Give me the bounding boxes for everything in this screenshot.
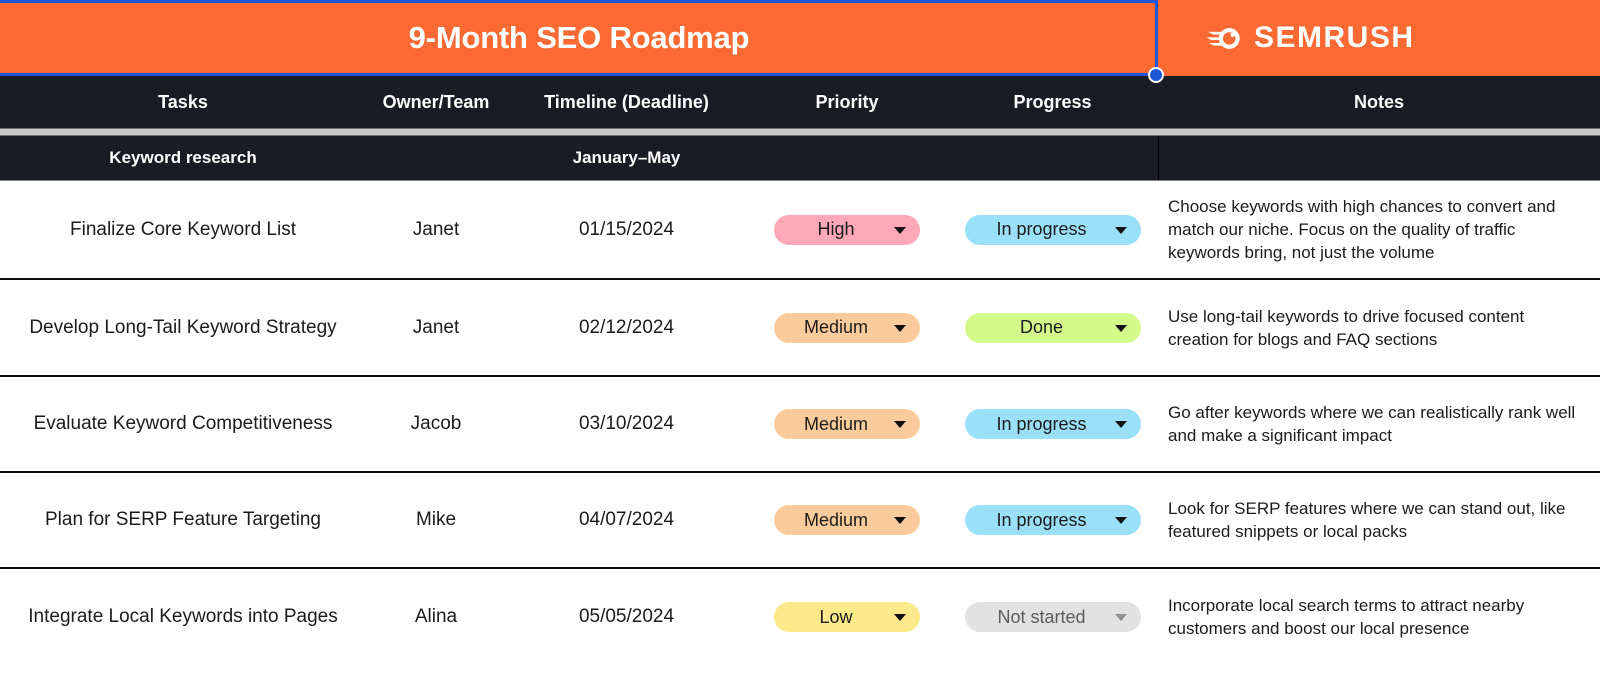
table-row: Finalize Core Keyword List Janet 01/15/2… bbox=[0, 181, 1600, 280]
priority-value: Medium bbox=[804, 414, 890, 435]
owner-label: Janet bbox=[413, 317, 459, 339]
progress-value: Not started bbox=[997, 607, 1107, 628]
progress-value: In progress bbox=[996, 510, 1108, 531]
chevron-down-icon bbox=[1115, 325, 1127, 332]
chevron-down-icon bbox=[1115, 227, 1127, 234]
priority-dropdown[interactable]: High bbox=[774, 215, 920, 245]
owner-cell[interactable]: Jacob bbox=[366, 377, 506, 471]
priority-dropdown[interactable]: Medium bbox=[774, 313, 920, 343]
date-cell[interactable]: 05/05/2024 bbox=[506, 569, 747, 665]
task-label: Plan for SERP Feature Targeting bbox=[45, 509, 321, 531]
owner-cell[interactable]: Mike bbox=[366, 473, 506, 567]
progress-cell[interactable]: In progress bbox=[947, 181, 1158, 278]
task-label: Evaluate Keyword Competitiveness bbox=[34, 413, 333, 435]
table-row: Evaluate Keyword Competitiveness Jacob 0… bbox=[0, 377, 1600, 473]
date-label: 01/15/2024 bbox=[579, 219, 674, 241]
notes-cell[interactable]: Incorporate local search terms to attrac… bbox=[1158, 569, 1600, 665]
chevron-down-icon bbox=[894, 517, 906, 524]
priority-cell[interactable]: Medium bbox=[747, 473, 947, 567]
column-header-row: Tasks Owner/Team Timeline (Deadline) Pri… bbox=[0, 76, 1600, 128]
chevron-down-icon bbox=[1115, 421, 1127, 428]
chevron-down-icon bbox=[894, 614, 906, 621]
column-header-priority[interactable]: Priority bbox=[747, 92, 947, 113]
title-cell[interactable]: 9-Month SEO Roadmap bbox=[0, 0, 1158, 76]
notes-label: Choose keywords with high chances to con… bbox=[1168, 195, 1588, 264]
date-label: 05/05/2024 bbox=[579, 606, 674, 628]
task-cell[interactable]: Integrate Local Keywords into Pages bbox=[0, 569, 366, 665]
priority-dropdown[interactable]: Low bbox=[774, 602, 920, 632]
semrush-logo: SEMRUSH bbox=[1158, 0, 1600, 76]
progress-dropdown[interactable]: In progress bbox=[965, 409, 1141, 439]
notes-label: Incorporate local search terms to attrac… bbox=[1168, 594, 1588, 640]
progress-cell[interactable]: Not started bbox=[947, 569, 1158, 665]
task-cell[interactable]: Develop Long-Tail Keyword Strategy bbox=[0, 280, 366, 375]
progress-dropdown[interactable]: Not started bbox=[965, 602, 1141, 632]
priority-cell[interactable]: Low bbox=[747, 569, 947, 665]
progress-value: In progress bbox=[996, 414, 1108, 435]
priority-value: High bbox=[817, 219, 876, 240]
progress-dropdown[interactable]: In progress bbox=[965, 505, 1141, 535]
priority-cell[interactable]: Medium bbox=[747, 377, 947, 471]
chevron-down-icon bbox=[894, 325, 906, 332]
progress-cell[interactable]: Done bbox=[947, 280, 1158, 375]
table-row: Integrate Local Keywords into Pages Alin… bbox=[0, 569, 1600, 665]
task-cell[interactable]: Finalize Core Keyword List bbox=[0, 181, 366, 278]
progress-cell[interactable]: In progress bbox=[947, 473, 1158, 567]
section-row-keyword-research: Keyword research January–May bbox=[0, 136, 1600, 181]
notes-label: Look for SERP features where we can stan… bbox=[1168, 497, 1588, 543]
progress-value: Done bbox=[1020, 317, 1085, 338]
task-label: Integrate Local Keywords into Pages bbox=[28, 606, 337, 628]
progress-value: In progress bbox=[996, 219, 1108, 240]
priority-value: Medium bbox=[804, 317, 890, 338]
date-cell[interactable]: 02/12/2024 bbox=[506, 280, 747, 375]
section-timeline[interactable]: January–May bbox=[506, 136, 747, 180]
progress-dropdown[interactable]: Done bbox=[965, 313, 1141, 343]
priority-cell[interactable]: High bbox=[747, 181, 947, 278]
owner-cell[interactable]: Janet bbox=[366, 181, 506, 278]
task-cell[interactable]: Plan for SERP Feature Targeting bbox=[0, 473, 366, 567]
task-label: Finalize Core Keyword List bbox=[70, 219, 296, 241]
page-title: 9-Month SEO Roadmap bbox=[409, 20, 750, 56]
priority-value: Medium bbox=[804, 510, 890, 531]
chevron-down-icon bbox=[1115, 614, 1127, 621]
title-band: 9-Month SEO Roadmap SEMRUSH bbox=[0, 0, 1600, 76]
date-cell[interactable]: 04/07/2024 bbox=[506, 473, 747, 567]
date-label: 02/12/2024 bbox=[579, 317, 674, 339]
date-cell[interactable]: 01/15/2024 bbox=[506, 181, 747, 278]
notes-label: Go after keywords where we can realistic… bbox=[1168, 401, 1588, 447]
column-header-progress[interactable]: Progress bbox=[947, 92, 1158, 113]
date-label: 03/10/2024 bbox=[579, 413, 674, 435]
chevron-down-icon bbox=[1115, 517, 1127, 524]
notes-label: Use long-tail keywords to drive focused … bbox=[1168, 305, 1588, 351]
selection-border-right bbox=[1155, 0, 1158, 76]
priority-value: Low bbox=[819, 607, 874, 628]
notes-cell[interactable]: Go after keywords where we can realistic… bbox=[1158, 377, 1600, 471]
semrush-comet-icon bbox=[1206, 19, 1244, 57]
section-notes-cell[interactable] bbox=[1158, 136, 1600, 180]
section-progress-cell[interactable] bbox=[947, 136, 1158, 180]
owner-label: Janet bbox=[413, 219, 459, 241]
header-separator-bar bbox=[0, 128, 1600, 136]
notes-cell[interactable]: Look for SERP features where we can stan… bbox=[1158, 473, 1600, 567]
priority-dropdown[interactable]: Medium bbox=[774, 409, 920, 439]
spreadsheet-canvas: 9-Month SEO Roadmap SEMRUSH Tasks Owner/… bbox=[0, 0, 1600, 676]
section-priority-cell[interactable] bbox=[747, 136, 947, 180]
column-header-timeline[interactable]: Timeline (Deadline) bbox=[506, 92, 747, 113]
section-owner-cell[interactable] bbox=[366, 136, 506, 180]
task-cell[interactable]: Evaluate Keyword Competitiveness bbox=[0, 377, 366, 471]
notes-cell[interactable]: Use long-tail keywords to drive focused … bbox=[1158, 280, 1600, 375]
priority-dropdown[interactable]: Medium bbox=[774, 505, 920, 535]
progress-cell[interactable]: In progress bbox=[947, 377, 1158, 471]
date-label: 04/07/2024 bbox=[579, 509, 674, 531]
owner-cell[interactable]: Janet bbox=[366, 280, 506, 375]
column-header-notes[interactable]: Notes bbox=[1158, 92, 1600, 113]
owner-label: Alina bbox=[415, 606, 457, 628]
selection-border-bottom bbox=[0, 73, 1158, 76]
table-row: Develop Long-Tail Keyword Strategy Janet… bbox=[0, 280, 1600, 377]
section-name[interactable]: Keyword research bbox=[0, 136, 366, 180]
priority-cell[interactable]: Medium bbox=[747, 280, 947, 375]
column-header-tasks[interactable]: Tasks bbox=[0, 92, 366, 113]
selection-border-top bbox=[0, 0, 1158, 3]
date-cell[interactable]: 03/10/2024 bbox=[506, 377, 747, 471]
owner-label: Jacob bbox=[411, 413, 462, 435]
chevron-down-icon bbox=[894, 227, 906, 234]
table-row: Plan for SERP Feature Targeting Mike 04/… bbox=[0, 473, 1600, 569]
column-header-owner[interactable]: Owner/Team bbox=[366, 92, 506, 113]
progress-dropdown[interactable]: In progress bbox=[965, 215, 1141, 245]
task-label: Develop Long-Tail Keyword Strategy bbox=[29, 317, 336, 339]
selection-fill-handle[interactable] bbox=[1148, 67, 1164, 83]
chevron-down-icon bbox=[894, 421, 906, 428]
semrush-wordmark: SEMRUSH bbox=[1254, 21, 1415, 55]
owner-label: Mike bbox=[416, 509, 456, 531]
notes-cell[interactable]: Choose keywords with high chances to con… bbox=[1158, 181, 1600, 278]
owner-cell[interactable]: Alina bbox=[366, 569, 506, 665]
